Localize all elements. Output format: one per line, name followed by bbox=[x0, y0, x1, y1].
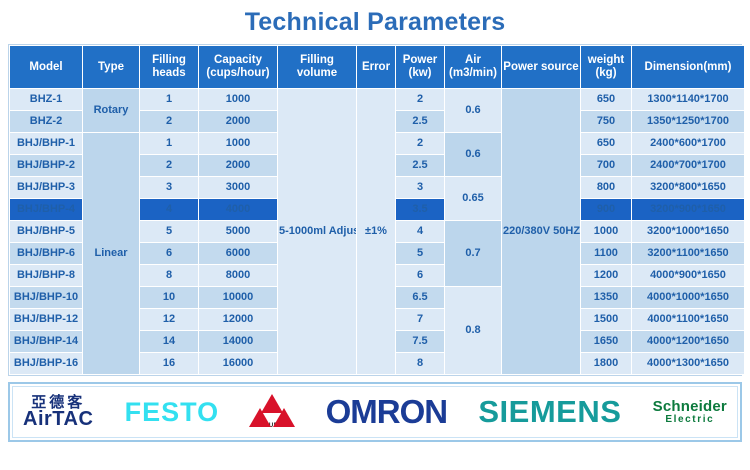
airtac-logo-en: AirTAC bbox=[23, 409, 93, 429]
cell-model: BHJ/BHP-14 bbox=[10, 331, 82, 352]
header-row: Model Type Filling heads Capacity (cups/… bbox=[10, 46, 744, 88]
cell-weight: 650 bbox=[581, 89, 631, 110]
cell-dimension: 3200*900*1650 bbox=[632, 199, 744, 220]
cell-filling-heads: 12 bbox=[140, 309, 198, 330]
cell-dimension: 2400*700*1700 bbox=[632, 155, 744, 176]
table-row[interactable]: BHZ-1Rotary110005-1000ml Adjustable±1%20… bbox=[10, 89, 744, 110]
cell-filling-heads: 2 bbox=[140, 155, 198, 176]
cell-power: 7.5 bbox=[396, 331, 444, 352]
cell-power: 2 bbox=[396, 89, 444, 110]
cell-weight: 750 bbox=[581, 111, 631, 132]
cell-power: 3.5 bbox=[396, 199, 444, 220]
cell-model: BHJ/BHP-10 bbox=[10, 287, 82, 308]
cell-air: 0.8 bbox=[445, 287, 501, 374]
cell-power: 2.5 bbox=[396, 155, 444, 176]
cell-power: 6 bbox=[396, 265, 444, 286]
column-header-dimension: Dimension(mm) bbox=[632, 46, 744, 88]
cell-capacity: 16000 bbox=[199, 353, 277, 374]
cell-dimension: 4000*900*1650 bbox=[632, 265, 744, 286]
cell-power: 6.5 bbox=[396, 287, 444, 308]
schneider-logo-line1: Schneider bbox=[653, 399, 727, 415]
column-header-model: Model bbox=[10, 46, 82, 88]
cell-model: BHJ/BHP-8 bbox=[10, 265, 82, 286]
cell-dimension: 3200*1000*1650 bbox=[632, 221, 744, 242]
cell-weight: 1350 bbox=[581, 287, 631, 308]
cell-model: BHJ/BHP-5 bbox=[10, 221, 82, 242]
cell-power: 3 bbox=[396, 177, 444, 198]
cell-capacity: 12000 bbox=[199, 309, 277, 330]
table-body: BHZ-1Rotary110005-1000ml Adjustable±1%20… bbox=[10, 89, 744, 374]
cell-error: ±1% bbox=[357, 89, 395, 374]
cell-capacity: 8000 bbox=[199, 265, 277, 286]
festo-logo: FESTO bbox=[125, 397, 220, 428]
cell-filling-heads: 1 bbox=[140, 133, 198, 154]
column-header-error: Error bbox=[357, 46, 395, 88]
column-header-filling-heads: Filling heads bbox=[140, 46, 198, 88]
cell-type: Linear bbox=[83, 133, 139, 374]
cell-dimension: 1300*1140*1700 bbox=[632, 89, 744, 110]
cell-air: 0.65 bbox=[445, 177, 501, 220]
table-header: Model Type Filling heads Capacity (cups/… bbox=[10, 46, 744, 88]
cell-dimension: 4000*1000*1650 bbox=[632, 287, 744, 308]
cell-filling-heads: 2 bbox=[140, 111, 198, 132]
cell-filling-heads: 1 bbox=[140, 89, 198, 110]
cell-air: 0.6 bbox=[445, 133, 501, 176]
cell-model: BHJ/BHP-6 bbox=[10, 243, 82, 264]
cell-model: BHZ-1 bbox=[10, 89, 82, 110]
cell-power: 8 bbox=[396, 353, 444, 374]
cell-dimension: 3200*800*1650 bbox=[632, 177, 744, 198]
cell-filling-heads: 14 bbox=[140, 331, 198, 352]
column-header-weight: weight (kg) bbox=[581, 46, 631, 88]
cell-dimension: 4000*1300*1650 bbox=[632, 353, 744, 374]
cell-filling-heads: 3 bbox=[140, 177, 198, 198]
cell-weight: 800 bbox=[581, 177, 631, 198]
cell-power: 5 bbox=[396, 243, 444, 264]
page-title: Technical Parameters bbox=[0, 0, 750, 44]
cell-weight: 1000 bbox=[581, 221, 631, 242]
mitsubishi-logo: MITSUBISHI bbox=[250, 396, 294, 429]
cell-model: BHJ/BHP-3 bbox=[10, 177, 82, 198]
airtac-logo: 亞德客 AirTAC bbox=[23, 395, 93, 429]
cell-weight: 1800 bbox=[581, 353, 631, 374]
cell-capacity: 2000 bbox=[199, 155, 277, 176]
column-header-capacity: Capacity (cups/hour) bbox=[199, 46, 277, 88]
mitsubishi-diamond-icon bbox=[250, 396, 294, 422]
siemens-logo: SIEMENS bbox=[478, 394, 621, 430]
cell-model: BHZ-2 bbox=[10, 111, 82, 132]
column-header-filling-volume: Filling volume bbox=[278, 46, 356, 88]
omron-logo: OMRON bbox=[326, 393, 448, 431]
cell-capacity: 1000 bbox=[199, 133, 277, 154]
cell-dimension: 2400*600*1700 bbox=[632, 133, 744, 154]
column-header-power-source: Power source bbox=[502, 46, 580, 88]
technical-parameters-page: Technical Parameters Model Type Filling … bbox=[0, 0, 750, 470]
cell-capacity: 10000 bbox=[199, 287, 277, 308]
cell-dimension: 3200*1100*1650 bbox=[632, 243, 744, 264]
brand-logo-strip: 亞德客 AirTAC FESTO MITSUBISHI OMRON SIEMEN… bbox=[12, 386, 738, 438]
cell-type: Rotary bbox=[83, 89, 139, 132]
cell-power: 2.5 bbox=[396, 111, 444, 132]
cell-capacity: 4000 bbox=[199, 199, 277, 220]
schneider-electric-logo: Schneider Electric bbox=[653, 399, 727, 425]
cell-filling-heads: 4 bbox=[140, 199, 198, 220]
cell-weight: 700 bbox=[581, 155, 631, 176]
cell-filling-heads: 10 bbox=[140, 287, 198, 308]
schneider-logo-line2: Electric bbox=[665, 415, 714, 426]
cell-dimension: 4000*1100*1650 bbox=[632, 309, 744, 330]
column-header-air: Air (m3/min) bbox=[445, 46, 501, 88]
cell-weight: 1650 bbox=[581, 331, 631, 352]
cell-model: BHJ/BHP-4 bbox=[10, 199, 82, 220]
cell-capacity: 1000 bbox=[199, 89, 277, 110]
cell-power: 4 bbox=[396, 221, 444, 242]
cell-capacity: 3000 bbox=[199, 177, 277, 198]
cell-capacity: 5000 bbox=[199, 221, 277, 242]
cell-capacity: 2000 bbox=[199, 111, 277, 132]
parameters-table: Model Type Filling heads Capacity (cups/… bbox=[9, 45, 745, 375]
cell-weight: 1200 bbox=[581, 265, 631, 286]
parameters-table-container: Model Type Filling heads Capacity (cups/… bbox=[8, 44, 742, 376]
cell-model: BHJ/BHP-16 bbox=[10, 353, 82, 374]
cell-filling-heads: 8 bbox=[140, 265, 198, 286]
column-header-type: Type bbox=[83, 46, 139, 88]
cell-model: BHJ/BHP-2 bbox=[10, 155, 82, 176]
cell-weight: 650 bbox=[581, 133, 631, 154]
cell-capacity: 6000 bbox=[199, 243, 277, 264]
cell-filling-heads: 16 bbox=[140, 353, 198, 374]
cell-air: 0.7 bbox=[445, 221, 501, 286]
cell-dimension: 1350*1250*1700 bbox=[632, 111, 744, 132]
cell-weight: 1500 bbox=[581, 309, 631, 330]
cell-capacity: 14000 bbox=[199, 331, 277, 352]
cell-dimension: 4000*1200*1650 bbox=[632, 331, 744, 352]
cell-air: 0.6 bbox=[445, 89, 501, 132]
cell-filling-volume: 5-1000ml Adjustable bbox=[278, 89, 356, 374]
brand-logo-bar: 亞德客 AirTAC FESTO MITSUBISHI OMRON SIEMEN… bbox=[8, 382, 742, 442]
cell-power-source: 220/380V 50HZ/60HZ bbox=[502, 89, 580, 374]
cell-model: BHJ/BHP-1 bbox=[10, 133, 82, 154]
cell-power: 2 bbox=[396, 133, 444, 154]
cell-weight: 1100 bbox=[581, 243, 631, 264]
cell-filling-heads: 5 bbox=[140, 221, 198, 242]
cell-model: BHJ/BHP-12 bbox=[10, 309, 82, 330]
cell-filling-heads: 6 bbox=[140, 243, 198, 264]
column-header-power: Power (kw) bbox=[396, 46, 444, 88]
cell-weight: 900 bbox=[581, 199, 631, 220]
cell-power: 7 bbox=[396, 309, 444, 330]
